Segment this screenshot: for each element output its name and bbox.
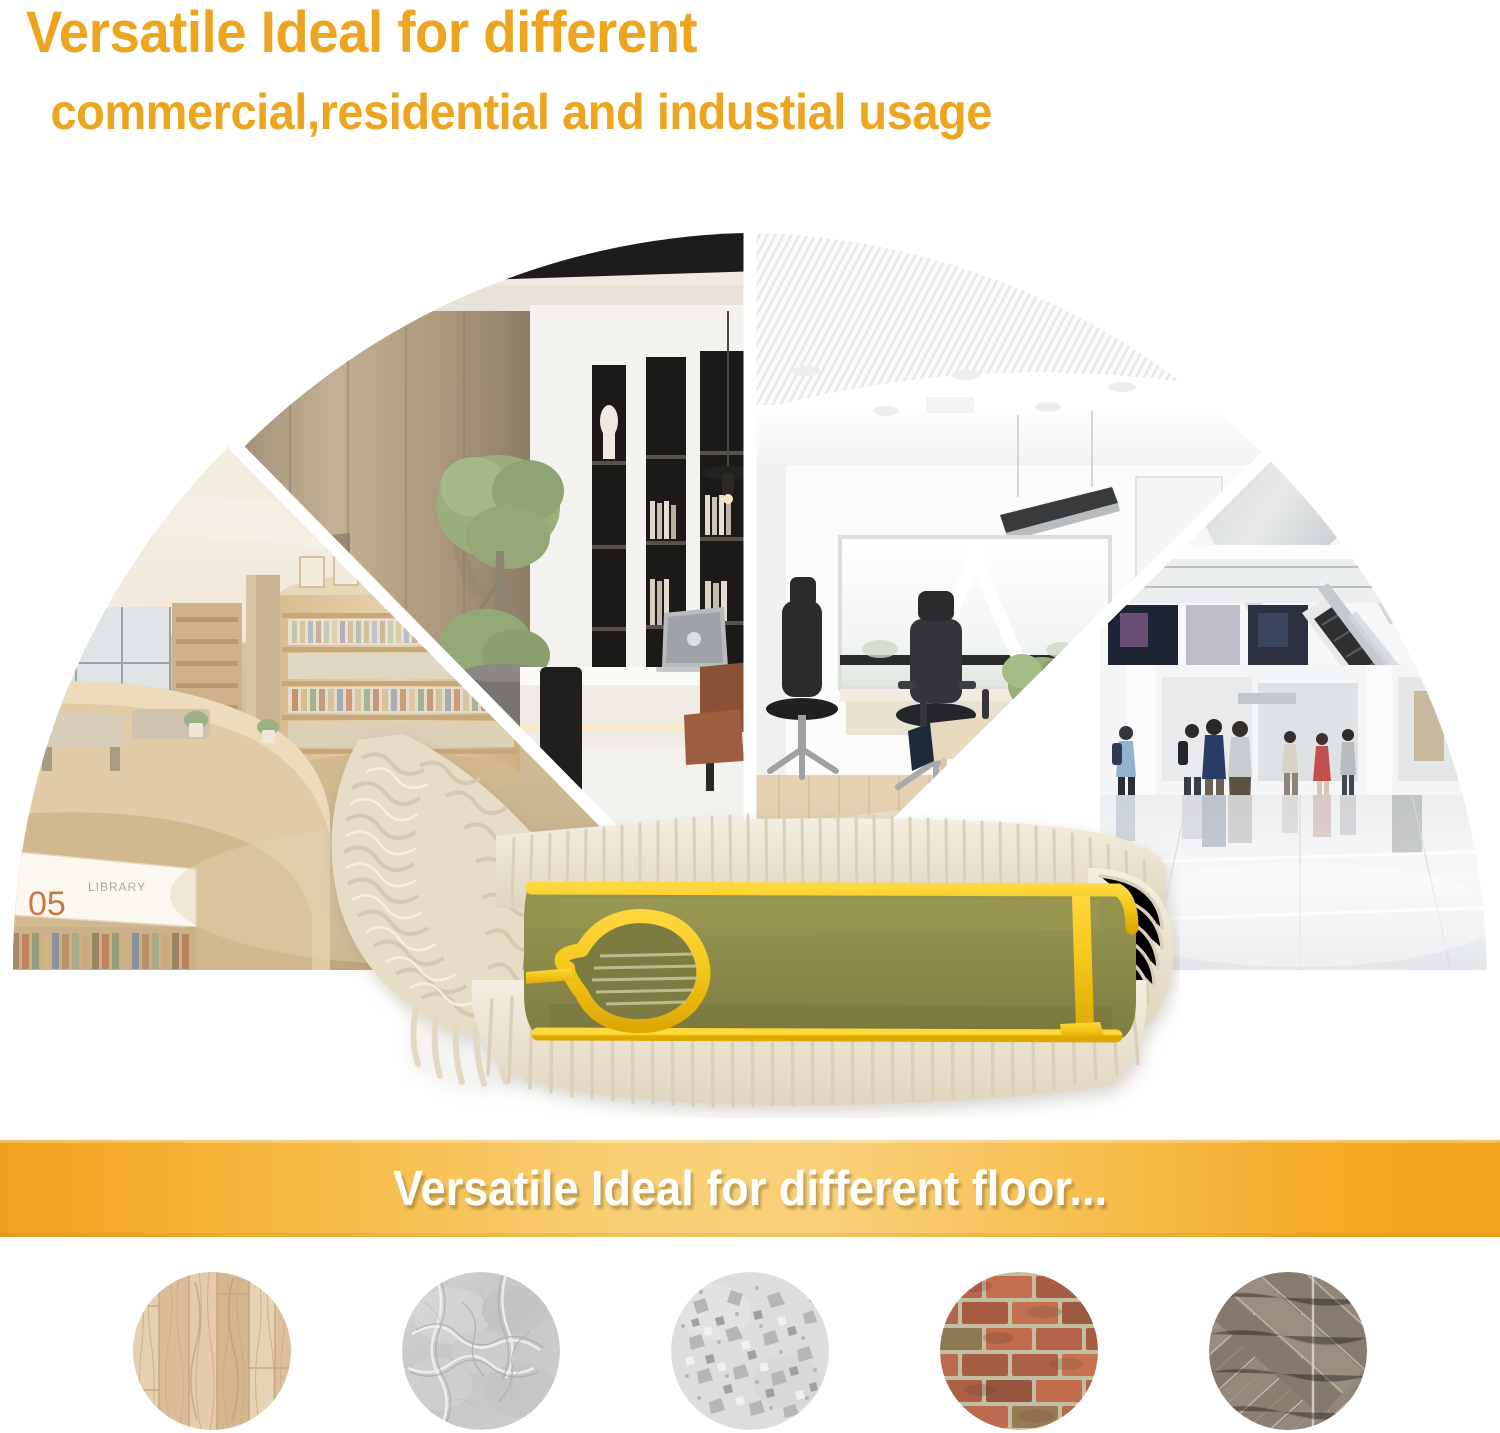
red-brick-swatch [940, 1272, 1098, 1430]
product-dust-mop-svg [300, 718, 1180, 1118]
product-marketing-page: Versatile Ideal for different commercial… [0, 0, 1500, 1433]
headline-primary: Versatile Ideal for different [26, 2, 1224, 64]
promo-banner-text: Versatile Ideal for different floor... [393, 1161, 1107, 1217]
product-dust-mop [300, 718, 1180, 1118]
floor-swatch-row [0, 1268, 1500, 1433]
library-shelf-number: 05 [28, 885, 66, 923]
gray-marble-swatch [402, 1272, 560, 1430]
light-oak-plank-swatch [133, 1272, 291, 1430]
gray-terrazzo-swatch [671, 1272, 829, 1430]
svg-text:LIBRARY: LIBRARY [88, 880, 146, 894]
dark-herringbone-wood-swatch [1209, 1272, 1367, 1430]
headline-block: Versatile Ideal for different commercial… [0, 0, 1300, 140]
headline-secondary: commercial,residential and industial usa… [26, 64, 1224, 140]
promo-banner: Versatile Ideal for different floor... [0, 1140, 1500, 1237]
